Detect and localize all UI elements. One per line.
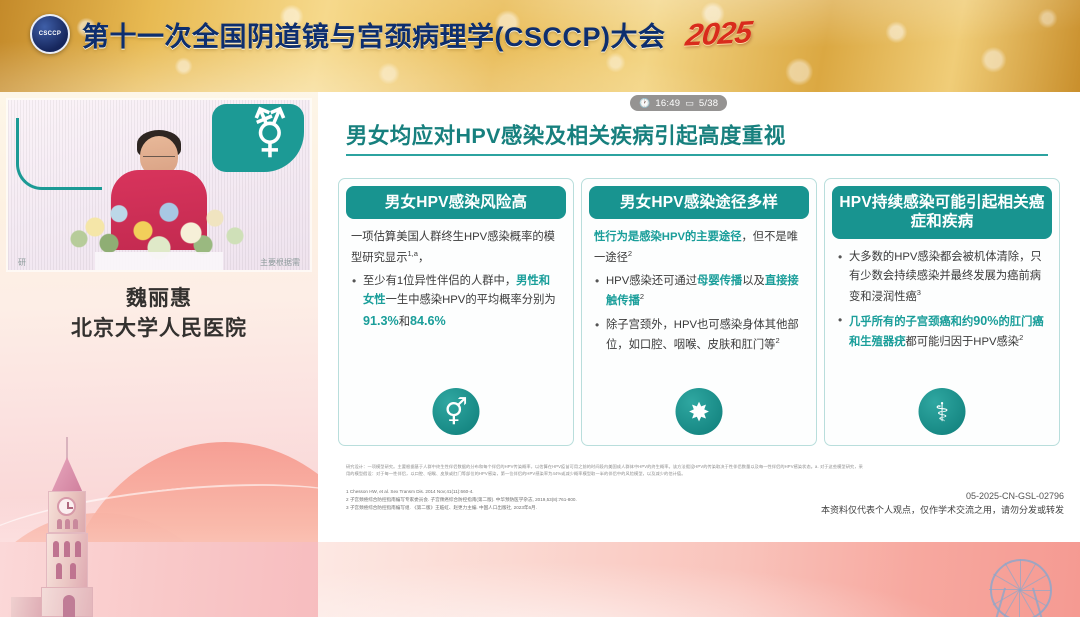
bullet-text-2: 都可能归因于HPV感染	[906, 336, 1020, 348]
list-item: 至少有1位异性伴侣的人群中，男性和女性一生中感染HPV的平均概率分别为91.3%…	[351, 272, 561, 333]
bullet-text-1: 大多数的HPV感染都会被机体清除，只有少数会持续感染并最终发展为癌前病变和浸润性…	[849, 251, 1042, 303]
intro-text: 一项估算美国人群终生HPV感染概率的模型研究显示	[351, 231, 555, 263]
speaker-name: 魏丽惠	[0, 282, 318, 312]
male-female-symbol-icon: ⚥	[433, 388, 480, 435]
document-code: 05-2025-CN-GSL-02796	[821, 490, 1064, 504]
disclaimer-text: 本资料仅代表个人观点，仅作学术交流之用，请勿分发或转发	[821, 504, 1064, 518]
bullet-superscript: 2	[775, 336, 779, 345]
gender-symbol-icon: ⚧	[250, 110, 290, 158]
card-intro: 一项估算美国人群终生HPV感染概率的模型研究显示1,a，	[351, 228, 561, 268]
event-banner: CSCCP 第十一次全国阴道镜与宫颈病理学(CSCCP)大会 2025	[0, 0, 1080, 92]
intro-highlight: 性行为是感染HPV的主要途径	[594, 231, 742, 243]
card-persistent-infection: HPV持续感染可能引起相关癌症和疾病 大多数的HPV感染都会被机体清除，只有少数…	[824, 178, 1060, 446]
card-group: 男女HPV感染风险高 一项估算美国人群终生HPV感染概率的模型研究显示1,a， …	[338, 178, 1062, 446]
speaker-panel: ⚧ 研 主要根据需 魏丽惠 北京大学人民医院	[0, 92, 318, 617]
bullet-text-2: 以及	[742, 275, 765, 287]
elapsed-time: 16:49	[655, 98, 680, 109]
backdrop-line-decoration	[16, 118, 102, 190]
bullet-text-3: 和	[399, 316, 410, 328]
page-icon: ▭	[685, 98, 694, 109]
tower-clock-icon	[57, 497, 76, 516]
bullet-highlight-3: 84.6%	[410, 314, 446, 328]
bullet-text-1: 除子宫颈外，HPV也可感染身体其他部位，如口腔、咽喉、皮肤和肛门等	[606, 319, 799, 351]
card-bullets: 至少有1位异性伴侣的人群中，男性和女性一生中感染HPV的平均概率分别为91.3%…	[351, 272, 561, 333]
list-item: 几乎所有的子宫颈癌和约90%的肛门癌和生殖器疣都可能归因于HPV感染2	[837, 311, 1047, 353]
banner-title: 第十一次全国阴道镜与宫颈病理学(CSCCP)大会	[82, 15, 666, 54]
card-hpv-risk: 男女HPV感染风险高 一项估算美国人群终生HPV感染概率的模型研究显示1,a， …	[338, 178, 574, 446]
intro-punct: ，	[418, 252, 429, 264]
caption-left: 研	[18, 257, 26, 268]
video-caption-overlay: 研 主要根据需	[8, 257, 310, 268]
list-item: HPV感染还可通过母婴传播以及直接接触传播2	[594, 272, 804, 312]
speaker-organization: 北京大学人民医院	[0, 312, 318, 342]
bullet-text-1: 至少有1位异性伴侣的人群中，	[363, 275, 516, 287]
logo-label: CSCCP	[39, 31, 62, 37]
study-footnote: 研究设计：一项模型研究。主要根据基于人群中终生性伴侣数据的分布和每个伴侣的HPV…	[346, 464, 866, 478]
banner-content: CSCCP 第十一次全国阴道镜与宫颈病理学(CSCCP)大会 2025	[30, 14, 750, 54]
card-intro: 性行为是感染HPV的主要途径，但不是唯一途径2	[594, 228, 804, 268]
reference-list: 1 Chesson HW, et al. Sex Transm Dis. 201…	[346, 488, 876, 512]
speaker-video-thumbnail[interactable]: ⚧ 研 主要根据需	[8, 100, 310, 270]
strip-glow	[318, 542, 1080, 617]
list-item: 除子宫颈外，HPV也可感染身体其他部位，如口腔、咽喉、皮肤和肛门等2	[594, 316, 804, 356]
card-heading: 男女HPV感染风险高	[346, 186, 566, 219]
uterus-icon: ⚕	[919, 388, 966, 435]
page-indicator: 5/38	[699, 98, 718, 109]
bullet-highlight-2: 91.3%	[363, 314, 399, 328]
clock-tower-illustration	[45, 437, 89, 617]
glasses-icon	[143, 156, 175, 164]
card-body: 大多数的HPV感染都会被机体清除，只有少数会持续感染并最终发展为癌前病变和浸润性…	[825, 248, 1059, 353]
document-code-block: 05-2025-CN-GSL-02796 本资料仅代表个人观点，仅作学术交流之用…	[821, 490, 1064, 518]
intro-superscript: 2	[628, 249, 632, 258]
bullet-highlight-1: 母婴传播	[697, 275, 742, 287]
virus-icon: ✸	[676, 388, 723, 435]
card-transmission-routes: 男女HPV感染途径多样 性行为是感染HPV的主要途径，但不是唯一途径2 HPV感…	[581, 178, 817, 446]
bullet-superscript: 3	[917, 288, 921, 297]
bullet-text-2: 一生中感染HPV的平均概率分别为	[386, 294, 556, 306]
bullet-superscript: 2	[1019, 333, 1023, 342]
csccp-logo-icon: CSCCP	[30, 14, 70, 54]
ferris-wheel-illustration	[980, 559, 1056, 617]
card-body: 性行为是感染HPV的主要途径，但不是唯一途径2 HPV感染还可通过母婴传播以及直…	[582, 228, 816, 355]
reference-item: 2 子宫颈癌综合防控指南编写专家委员会. 子宫颈癌综合防控指南(第二版). 中华…	[346, 496, 876, 504]
caption-right: 主要根据需	[260, 257, 300, 268]
clock-icon: 🕐	[639, 98, 650, 109]
reference-item: 3 子宫颈癌综合防控指南编写组. 《第二版》王临虹、赵更力主编. 中国人口出版社…	[346, 504, 876, 512]
title-divider	[346, 154, 1048, 156]
card-heading: 男女HPV感染途径多样	[589, 186, 809, 219]
list-item: 大多数的HPV感染都会被机体清除，只有少数会持续感染并最终发展为癌前病变和浸润性…	[837, 248, 1047, 307]
card-body: 一项估算美国人群终生HPV感染概率的模型研究显示1,a， 至少有1位异性伴侣的人…	[339, 228, 573, 332]
bullet-highlight-big: 90%	[973, 314, 998, 328]
card-bullets: 大多数的HPV感染都会被机体清除，只有少数会持续感染并最终发展为癌前病变和浸润性…	[837, 248, 1047, 353]
banner-year: 2025	[683, 14, 753, 53]
intro-superscript: 1,a	[408, 249, 418, 258]
bullet-superscript: 2	[640, 292, 644, 301]
card-heading: HPV持续感染可能引起相关癌症和疾病	[832, 186, 1052, 239]
slide-progress-badge: 🕐 16:49 ▭ 5/38	[630, 95, 727, 111]
presentation-slide: 🕐 16:49 ▭ 5/38 男女均应对HPV感染及相关疾病引起高度重视 男女H…	[318, 92, 1080, 542]
slide-title: 男女均应对HPV感染及相关疾病引起高度重视	[346, 119, 786, 150]
bottom-decoration-strip	[318, 542, 1080, 617]
reference-item: 1 Chesson HW, et al. Sex Transm Dis. 201…	[346, 488, 876, 496]
bullet-highlight-1: 几乎所有的子宫颈癌和约	[849, 316, 973, 328]
card-bullets: HPV感染还可通过母婴传播以及直接接触传播2 除子宫颈外，HPV也可感染身体其他…	[594, 272, 804, 355]
bullet-text-1: HPV感染还可通过	[606, 275, 697, 287]
